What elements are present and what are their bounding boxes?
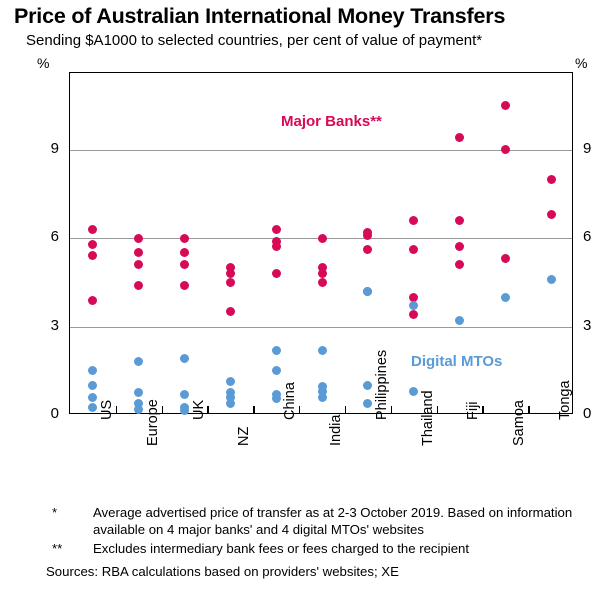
data-point <box>180 390 189 399</box>
data-point <box>134 248 143 257</box>
x-axis-tick <box>391 406 392 413</box>
sources-line: Sources: RBA calculations based on provi… <box>46 564 608 581</box>
data-point <box>409 387 418 396</box>
x-axis-tick <box>437 406 438 413</box>
y-axis-unit-right: % <box>575 55 587 71</box>
data-point <box>409 216 418 225</box>
y-axis-tick-label: 3 <box>583 318 608 333</box>
legend-digital-mtos: Digital MTOs <box>411 353 502 370</box>
y-axis-tick-label: 9 <box>583 141 608 156</box>
x-axis-tick <box>482 406 483 413</box>
data-point <box>501 101 510 110</box>
data-point <box>134 388 143 397</box>
data-point <box>134 281 143 290</box>
data-point <box>226 269 235 278</box>
x-axis-tick <box>345 406 346 413</box>
chart-subtitle: Sending $A1000 to selected countries, pe… <box>26 32 482 49</box>
data-point <box>88 381 97 390</box>
y-axis-tick-label: 0 <box>33 406 59 421</box>
x-axis-tick <box>299 406 300 413</box>
footnotes: * Average advertised price of transfer a… <box>0 505 608 580</box>
data-point <box>547 175 556 184</box>
data-point <box>88 225 97 234</box>
footnote-row: ** Excludes intermediary bank fees or fe… <box>0 541 608 558</box>
x-axis-tick <box>528 406 529 413</box>
x-axis-tick <box>116 406 117 413</box>
data-point <box>318 234 327 243</box>
data-point <box>272 225 281 234</box>
data-point <box>501 254 510 263</box>
data-point <box>318 393 327 402</box>
data-point <box>226 278 235 287</box>
data-point <box>363 381 372 390</box>
data-point <box>88 403 97 412</box>
y-axis-tick-label: 6 <box>583 229 608 244</box>
x-axis-label-india: India <box>328 415 344 446</box>
x-axis-label-us: US <box>99 400 115 420</box>
data-point <box>409 293 418 302</box>
data-point <box>318 278 327 287</box>
data-point <box>547 210 556 219</box>
y-axis-tick-label: 6 <box>33 229 59 244</box>
data-point <box>409 301 418 310</box>
data-point <box>501 145 510 154</box>
data-point <box>363 245 372 254</box>
data-point <box>180 354 189 363</box>
data-point <box>180 406 189 415</box>
data-point <box>363 287 372 296</box>
data-point <box>455 216 464 225</box>
data-point <box>88 393 97 402</box>
data-point <box>180 248 189 257</box>
footnote-mark: * <box>52 505 92 522</box>
data-point <box>455 316 464 325</box>
data-point <box>180 281 189 290</box>
y-axis-unit-left: % <box>37 55 49 71</box>
data-point <box>547 275 556 284</box>
data-point <box>134 260 143 269</box>
data-point <box>455 242 464 251</box>
y-axis-tick-label: 9 <box>33 141 59 156</box>
gridline <box>70 327 572 328</box>
data-point <box>226 307 235 316</box>
x-axis-tick <box>207 406 208 413</box>
x-axis-tick <box>162 406 163 413</box>
footnote-mark: ** <box>52 541 92 558</box>
data-point <box>363 231 372 240</box>
data-point <box>318 269 327 278</box>
x-axis-tick <box>253 406 254 413</box>
data-point <box>88 240 97 249</box>
footnote-text: Average advertised price of transfer as … <box>93 505 596 538</box>
data-point <box>272 366 281 375</box>
data-point <box>88 251 97 260</box>
data-point <box>134 234 143 243</box>
data-point <box>88 296 97 305</box>
data-point <box>88 366 97 375</box>
page-title: Price of Australian International Money … <box>14 4 505 29</box>
data-point <box>501 293 510 302</box>
data-point <box>455 133 464 142</box>
x-axis-label-tonga: Tonga <box>557 380 573 420</box>
x-axis-label-samoa: Samoa <box>511 400 527 446</box>
x-axis-label-nz: NZ <box>236 427 252 446</box>
data-point <box>272 242 281 251</box>
data-point <box>409 245 418 254</box>
x-axis-label-uk: UK <box>191 400 207 420</box>
x-axis-label-europe: Europe <box>145 399 161 446</box>
data-point <box>318 346 327 355</box>
footnote-text: Excludes intermediary bank fees or fees … <box>93 541 596 558</box>
data-point <box>409 310 418 319</box>
data-point <box>180 234 189 243</box>
x-axis-label-thailand: Thailand <box>420 390 436 446</box>
x-axis-label-fiji: Fiji <box>465 401 481 420</box>
legend-major-banks: Major Banks** <box>281 113 382 130</box>
x-axis-label-philippines: Philippines <box>374 350 390 420</box>
footnote-row: * Average advertised price of transfer a… <box>0 505 608 538</box>
y-axis-tick-label: 0 <box>583 406 608 421</box>
y-axis-tick-label: 3 <box>33 318 59 333</box>
x-axis-label-china: China <box>282 382 298 420</box>
data-point <box>272 394 281 403</box>
data-point <box>226 399 235 408</box>
data-point <box>134 405 143 414</box>
data-point <box>226 377 235 386</box>
data-point <box>455 260 464 269</box>
gridline <box>70 150 572 151</box>
data-point <box>272 346 281 355</box>
data-point <box>363 399 372 408</box>
data-point <box>180 260 189 269</box>
chart-page: Price of Australian International Money … <box>0 0 608 591</box>
data-point <box>134 357 143 366</box>
data-point <box>272 269 281 278</box>
